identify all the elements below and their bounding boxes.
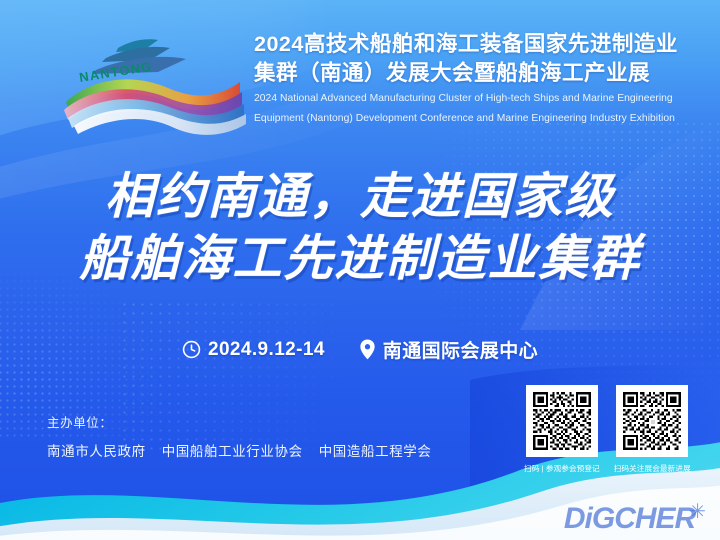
qr-exhibition-updates[interactable]: 扫码关注展会最新进展 [614,385,691,474]
watermark-text-bold: DiG [564,504,614,534]
qr-code-area: 扫码 | 参观参会预登记 [524,385,691,474]
title-block: 2024高技术船舶和海工装备国家先进制造业 集群（南通）发展大会暨船舶海工产业展… [254,26,678,126]
event-date-text: 2024.9.12-14 [208,339,325,361]
qr-caption: 扫码 | 参观参会预登记 [524,463,600,474]
organizer-item: 中国造船工程学会 [319,440,432,460]
slogan-line-1: 相约南通，走进国家级 [0,166,720,228]
organizers-list: 南通市人民政府 中国船舶工业行业协会 中国造船工程学会 [47,440,432,460]
event-location: 南通国际会展中心 [359,336,538,363]
nantong-logo: NANTONG [58,26,248,136]
clock-icon [182,340,201,359]
logo-mark-icon: NANTONG [58,26,248,136]
qr-code-image[interactable] [616,385,688,457]
organizers-label: 主办单位： [47,412,432,431]
organizer-item: 中国船舶工业行业协会 [162,440,303,460]
slogan-line-2: 船舶海工先进制造业集群 [0,228,720,290]
organizers-block: 主办单位： 南通市人民政府 中国船舶工业行业协会 中国造船工程学会 [47,412,432,460]
conference-title-en-line2: Equipment (Nantong) Development Conferen… [254,112,678,127]
poster-header: NANTONG 2024高技术船舶和海工装备国家先进制造业 集群（南通）发展大会… [0,26,720,136]
event-date: 2024.9.12-14 [182,339,325,361]
watermark: DiG CHER ✳ [564,504,706,534]
conference-title-cn-line2: 集群（南通）发展大会暨船舶海工产业展 [254,59,678,88]
qr-visitor-registration[interactable]: 扫码 | 参观参会预登记 [524,385,600,474]
conference-title-en-line1: 2024 National Advanced Manufacturing Clu… [254,92,678,107]
main-slogan: 相约南通，走进国家级 船舶海工先进制造业集群 [0,166,720,290]
conference-poster: NANTONG 2024高技术船舶和海工装备国家先进制造业 集群（南通）发展大会… [0,0,720,540]
map-pin-icon [359,339,376,360]
conference-title-cn-line1: 2024高技术船舶和海工装备国家先进制造业 [254,30,678,59]
watermark-text-light: CHER [614,504,695,534]
qr-code-image[interactable] [526,385,598,457]
event-location-text: 南通国际会展中心 [383,336,538,363]
qr-caption: 扫码关注展会最新进展 [614,463,691,474]
event-meta: 2024.9.12-14 南通国际会展中心 [0,336,720,363]
organizer-item: 南通市人民政府 [47,440,146,460]
sparkle-icon: ✳ [689,499,706,524]
